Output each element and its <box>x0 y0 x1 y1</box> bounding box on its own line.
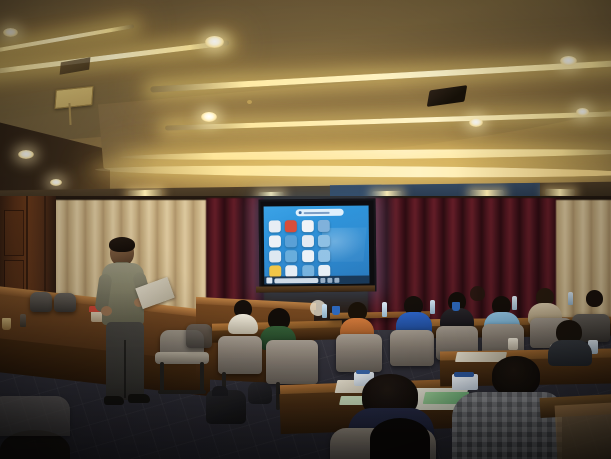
app-icon-12[interactable] <box>318 250 330 262</box>
wood-panel <box>4 210 24 256</box>
attendee-head <box>470 286 485 301</box>
tissue-box-band <box>454 372 474 377</box>
app-icon-1[interactable] <box>269 220 281 232</box>
taskbar-app-icon[interactable] <box>334 277 339 282</box>
presenter-shoe-right <box>128 394 150 403</box>
bag <box>248 382 272 404</box>
water-bottle <box>322 304 327 318</box>
chair[interactable] <box>336 334 382 372</box>
attendee-head <box>492 356 540 396</box>
chair-leg <box>200 362 204 392</box>
attendee-body <box>228 314 258 334</box>
tissue-box-band <box>356 370 370 374</box>
ceiling-downlight <box>560 56 577 66</box>
search-icon <box>299 211 302 214</box>
chair[interactable] <box>0 396 70 436</box>
screen-wall-trim <box>256 285 375 292</box>
water-bottle <box>430 300 435 314</box>
attendee-body <box>548 340 592 366</box>
windows-taskbar[interactable] <box>264 275 369 284</box>
attendee-body <box>555 402 611 459</box>
start-button-icon[interactable] <box>266 277 272 283</box>
paper-cup <box>2 318 11 330</box>
water-bottle <box>20 314 26 327</box>
backpack-handle <box>212 386 228 396</box>
water-bottle <box>568 292 573 305</box>
chair-leg <box>160 362 164 392</box>
taskbar-app-icon[interactable] <box>320 277 325 282</box>
chair[interactable] <box>218 336 262 374</box>
projected-desktop <box>264 205 370 284</box>
desktop-icon-grid <box>269 220 332 278</box>
attendee-head <box>586 290 603 307</box>
app-icon-6[interactable] <box>285 235 297 247</box>
chair-base <box>158 390 206 394</box>
app-icon-5[interactable] <box>269 235 281 247</box>
app-icon-8[interactable] <box>318 235 330 247</box>
app-icon-9[interactable] <box>269 250 281 262</box>
app-icon-11[interactable] <box>302 250 314 262</box>
presenter-hand-left <box>101 306 112 316</box>
ceiling-downlight <box>201 112 217 122</box>
paper-cup <box>452 302 460 311</box>
search-placeholder-line <box>304 211 330 213</box>
chair[interactable] <box>30 292 52 312</box>
ceiling-downlight <box>3 28 18 37</box>
chair[interactable] <box>186 324 212 348</box>
app-icon-3[interactable] <box>301 220 313 232</box>
water-bottle <box>382 302 387 317</box>
ceiling-downlight <box>50 179 62 186</box>
water-bottle <box>512 296 517 310</box>
chair[interactable] <box>54 293 76 312</box>
ceiling-downlight <box>576 108 589 116</box>
presenter-leg-split <box>124 340 126 398</box>
conference-room-photo <box>0 0 611 459</box>
ceiling-sensor-dot <box>247 100 252 104</box>
attendee-head <box>370 418 430 459</box>
chair[interactable] <box>390 330 434 366</box>
projection-screen[interactable] <box>259 198 377 292</box>
ceiling-downlight <box>469 118 483 127</box>
app-icon-7[interactable] <box>301 235 313 247</box>
paper-cup <box>508 338 518 350</box>
presenter-shoe-left <box>104 396 124 405</box>
paper-cup <box>332 306 340 315</box>
ceiling-downlight <box>205 36 224 48</box>
desktop-search-bar[interactable] <box>296 209 344 217</box>
app-icon-10[interactable] <box>285 250 297 262</box>
taskbar-search-input[interactable] <box>274 277 318 282</box>
ceiling-downlight <box>18 150 34 159</box>
app-icon-4[interactable] <box>317 220 329 232</box>
chair[interactable] <box>266 340 318 384</box>
app-icon-2[interactable] <box>285 220 297 232</box>
taskbar-app-icon[interactable] <box>327 277 332 282</box>
presenter-hair <box>109 237 135 252</box>
